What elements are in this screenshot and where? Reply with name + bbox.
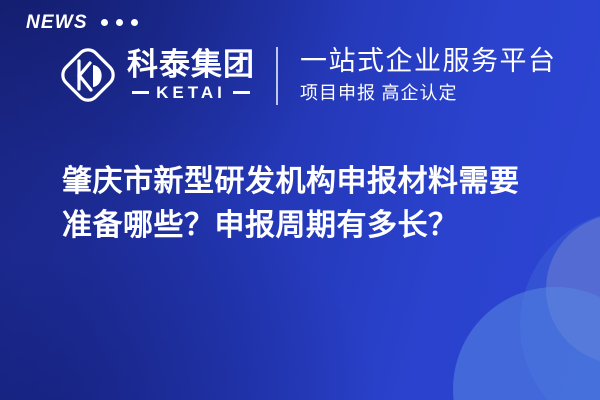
headline-line: 肇庆市新型研发机构申报材料需要 (62, 160, 562, 204)
page-title: 肇庆市新型研发机构申报材料需要 准备哪些？申报周期有多长？ (62, 160, 562, 247)
brand-name-cn: 科泰集团 (127, 49, 255, 82)
headline-line: 准备哪些？申报周期有多长？ (62, 204, 562, 248)
eyebrow-dots (101, 19, 138, 26)
news-banner: NEWS 科泰集团 KETA (0, 0, 600, 400)
eyebrow: NEWS (26, 13, 138, 32)
decorative-circle-blue (453, 287, 600, 400)
dot-icon (116, 19, 123, 26)
brand-name-en: KETAI (156, 84, 226, 101)
brand-names: 科泰集团 KETAI (127, 49, 255, 102)
ketai-diamond-kd-logo-icon (55, 42, 121, 108)
dot-icon (131, 19, 138, 26)
brand-lockup: 科泰集团 KETAI (55, 42, 255, 108)
eyebrow-label: NEWS (26, 13, 88, 32)
tagline-sub: 项目申报 高企认定 (300, 83, 557, 105)
tagline: 一站式企业服务平台 项目申报 高企认定 (300, 46, 557, 105)
tagline-main: 一站式企业服务平台 (300, 46, 557, 77)
brand-tagline-divider (276, 47, 278, 105)
brand-rule-right (233, 91, 250, 94)
dot-icon (101, 19, 108, 26)
brand-name-en-row: KETAI (132, 84, 250, 101)
brand-rule-left (132, 91, 149, 94)
